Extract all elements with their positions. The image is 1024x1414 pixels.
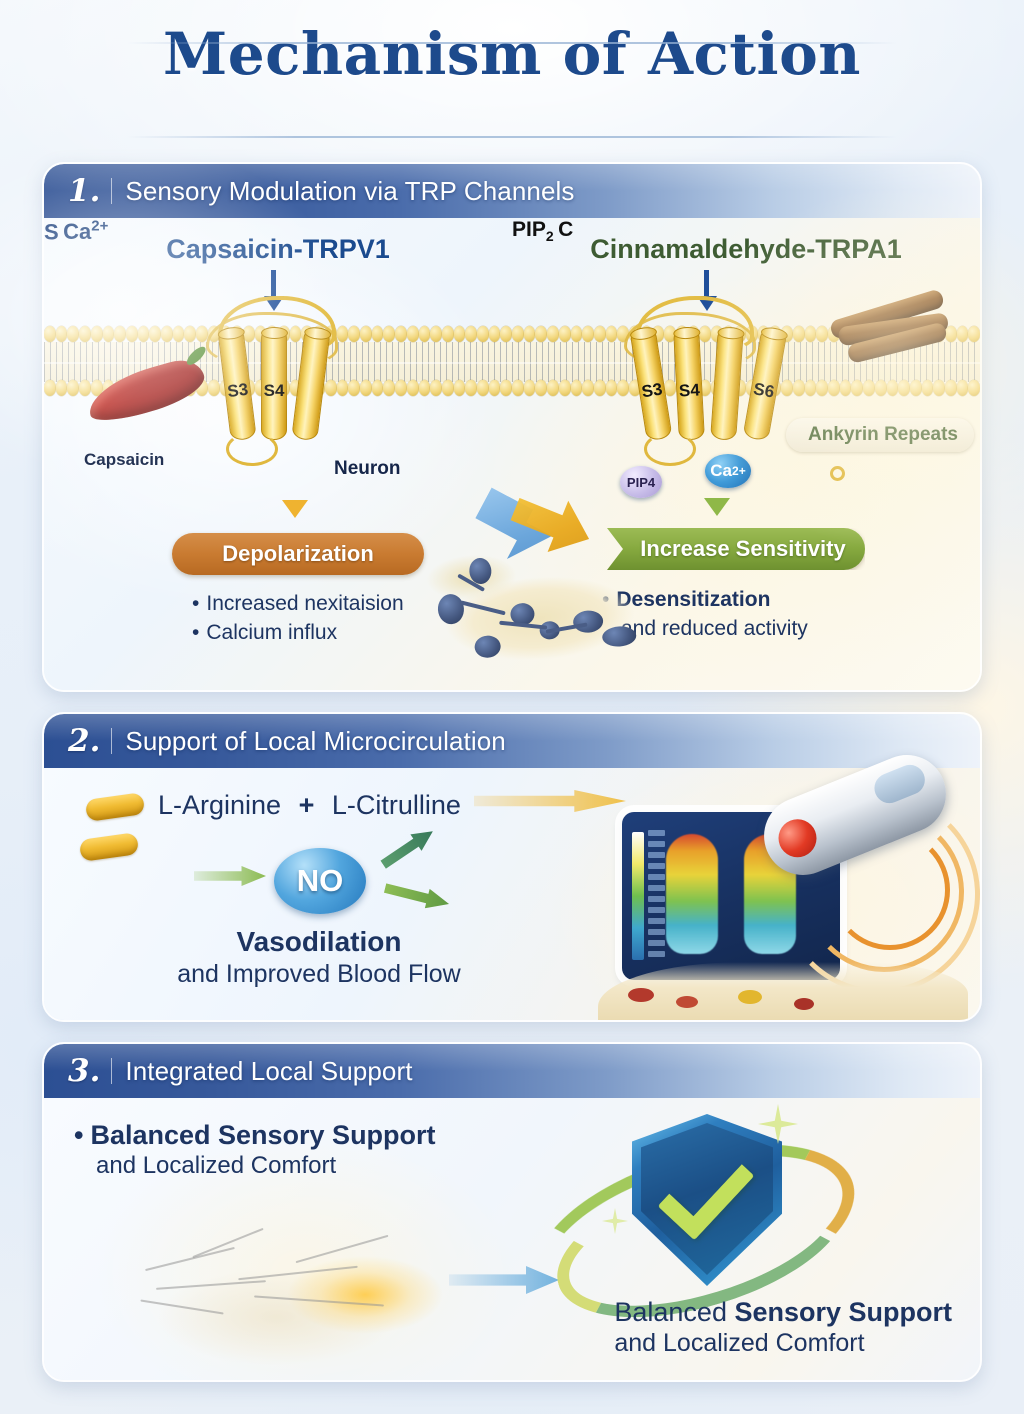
title-rule-top <box>127 42 897 44</box>
panel-heading-trpa1: Cinnamaldehyde-TRPA1 <box>512 234 980 265</box>
section-3-caption: Balanced Sensory Support and Localized C… <box>614 1297 952 1358</box>
trpv1-channel-protein: S3 S4 <box>214 290 344 440</box>
caption-line-2: and Localized Comfort <box>614 1329 952 1358</box>
panel-heading-trpv1: Capsaicin-TRPV1 <box>44 234 512 265</box>
plus-sign: + <box>299 790 315 820</box>
section-3-number: 3. <box>68 1056 100 1087</box>
ingredient-arginine: L-Arginine <box>158 790 281 820</box>
flow-arrow-up <box>378 823 439 873</box>
badge-depolarization: Depolarization <box>172 533 424 575</box>
section-1-title: Sensory Modulation via TRP Channels <box>125 176 574 207</box>
label-ankyrin-repeats: Ankyrin Repeats <box>786 418 974 452</box>
section-2-body: L-Arginine + L-Citrulline NO Vasodilatio… <box>44 768 980 1020</box>
header-divider <box>111 178 112 204</box>
ingredient-citrulline: L-Citrulline <box>332 790 461 820</box>
infographic-page: Mechanism of Action 1. Sensory Modulatio… <box>0 0 1024 1414</box>
nitric-oxide-bubble: NO <box>274 848 366 914</box>
checkmark-icon <box>658 1142 755 1240</box>
title-rule-bottom <box>127 136 897 138</box>
label-capsaicin: Capsaicin <box>84 450 164 470</box>
list-item: •Increased nexitaision <box>192 590 404 619</box>
section-3-title: Integrated Local Support <box>125 1056 412 1087</box>
list-item: •Calcium influx <box>192 619 404 648</box>
flow-arrow-in <box>194 866 266 886</box>
header-divider <box>111 728 112 754</box>
bullet-list-left: •Increased nexitaision •Calcium influx <box>192 590 404 648</box>
page-title: Mechanism of Action <box>0 24 1024 85</box>
helix-s4: S4 <box>261 328 287 440</box>
lipid-ring-icon <box>830 466 845 481</box>
header-divider <box>111 1058 112 1084</box>
bullet-balanced-sensory-support: •Balanced Sensory Support <box>74 1120 436 1151</box>
intracellular-tail <box>226 432 278 466</box>
thermal-imaging-illustration <box>590 776 960 1022</box>
depolarization-arrow <box>282 500 308 518</box>
section-3-header: 3. Integrated Local Support <box>44 1044 980 1098</box>
vasodilation-heading: Vasodilation <box>104 926 534 958</box>
pip-bubble-label: PIP4 <box>620 466 662 498</box>
section-1-number: 1. <box>68 176 100 207</box>
section-2-title: Support of Local Microcirculation <box>125 726 505 757</box>
neuron-illustration <box>409 527 668 686</box>
section-2-number: 2. <box>68 726 100 757</box>
flow-arrow-down <box>383 878 452 913</box>
section-card-2: 2. Support of Local Microcirculation L-A… <box>42 712 982 1022</box>
section-3-bullet-block: •Balanced Sensory Support and Localized … <box>74 1120 436 1180</box>
section-1-body: Capsaicin-TRPV1 <box>44 218 980 690</box>
trpa1-channel-protein: S3 S4 S6 <box>632 290 802 440</box>
caption-line-1: Balanced Sensory Support <box>614 1297 952 1328</box>
vasodilation-text-block: Vasodilation and Improved Blood Flow <box>104 926 534 989</box>
supplement-capsules-icon <box>80 792 154 868</box>
calcium-ion-bubble: Ca2+ <box>705 454 751 488</box>
title-block: Mechanism of Action <box>0 24 1024 85</box>
thermal-color-scale <box>632 832 644 960</box>
section-card-1: 1. Sensory Modulation via TRP Channels C… <box>42 162 982 692</box>
label-neuron: Neuron <box>334 458 401 480</box>
bullet-localized-comfort: and Localized Comfort <box>74 1152 436 1180</box>
section-card-3: 3. Integrated Local Support •Balanced Se… <box>42 1042 982 1382</box>
nerve-fiber-illustration <box>134 1218 474 1378</box>
section-1-header: 1. Sensory Modulation via TRP Channels <box>44 164 980 218</box>
section-3-body: •Balanced Sensory Support and Localized … <box>44 1098 980 1380</box>
sensitivity-arrow <box>704 498 730 516</box>
vasodilation-subtext: and Improved Blood Flow <box>104 960 534 989</box>
section-2-header: 2. Support of Local Microcirculation <box>44 714 980 768</box>
ingredients-line: L-Arginine + L-Citrulline <box>158 790 461 821</box>
capsule-1 <box>85 792 145 822</box>
blood-vessel-illustration <box>598 962 968 1022</box>
intracellular-tail <box>644 432 696 466</box>
thermal-scale-ticks <box>648 830 665 962</box>
capsule-2 <box>79 832 139 862</box>
thermal-leg-left <box>666 834 718 954</box>
